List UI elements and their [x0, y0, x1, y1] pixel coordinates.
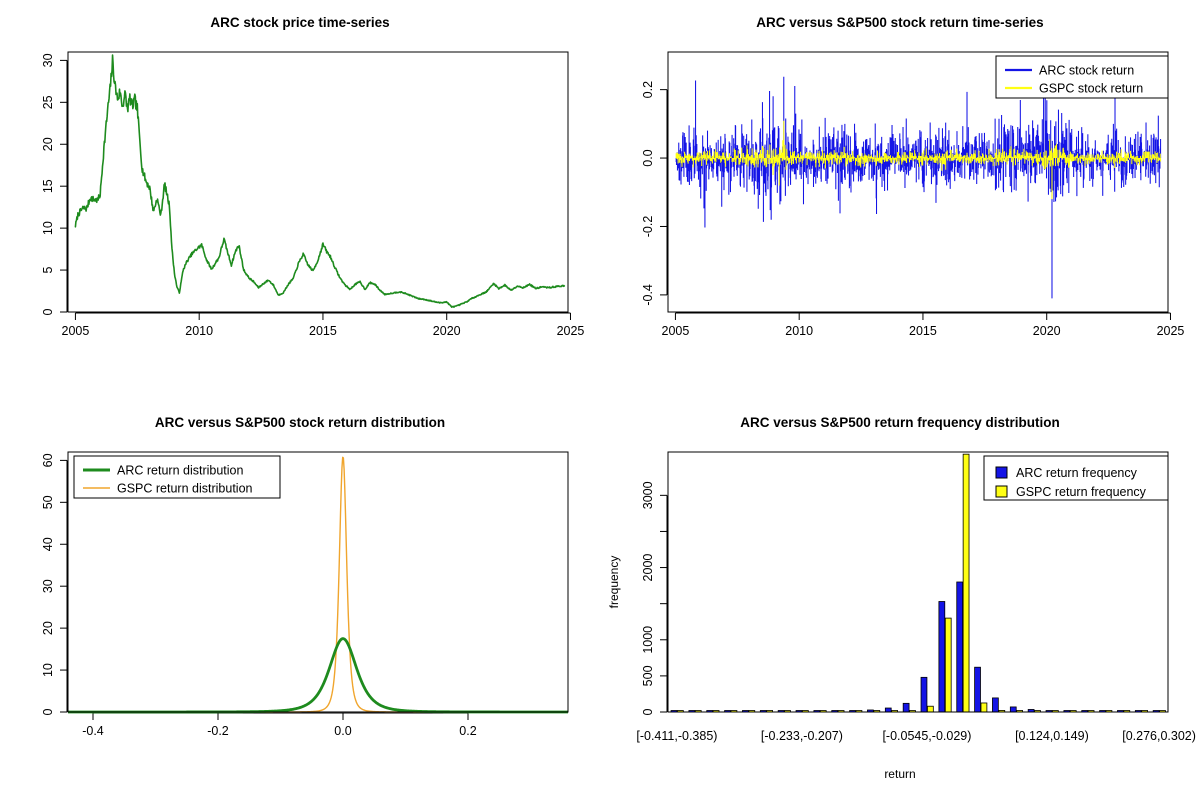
- panel-return-timeseries: ARC versus S&P500 stock return time-seri…: [600, 0, 1200, 400]
- arc-return-spikes: [676, 77, 1160, 299]
- y-axis-label: frequency: [607, 556, 621, 609]
- histogram-bar: [903, 703, 909, 712]
- x-tick-label: 2005: [62, 324, 90, 338]
- histogram-bar: [957, 582, 963, 712]
- y-tick-label: -0.2: [641, 216, 655, 238]
- arc-density-curve: [68, 639, 568, 712]
- y-tick-label: 40: [41, 537, 55, 551]
- legend-label-1: GSPC return distribution: [117, 482, 253, 496]
- x-tick-label: 0.2: [459, 724, 476, 738]
- x-axis-label: return: [884, 767, 915, 781]
- legend[interactable]: ARC stock returnGSPC stock return: [996, 56, 1168, 98]
- histogram-bar: [963, 454, 969, 712]
- panel-title: ARC stock price time-series: [210, 15, 389, 30]
- y-tick-label: 0: [41, 708, 55, 715]
- panel-title: ARC versus S&P500 stock return time-seri…: [756, 15, 1043, 30]
- histogram-bar: [981, 703, 987, 712]
- x-tick-label: 2025: [1157, 324, 1185, 338]
- y-tick-label: 500: [641, 665, 655, 686]
- legend-label-0: ARC return distribution: [117, 464, 243, 478]
- y-tick-label: 30: [41, 53, 55, 67]
- panel-price-timeseries: ARC stock price time-series 200520102015…: [0, 0, 600, 400]
- y-tick-label: 0.0: [641, 149, 655, 166]
- panel-return-distribution: ARC versus S&P500 stock return distribut…: [0, 400, 600, 800]
- x-tick-label: 2015: [909, 324, 937, 338]
- y-tick-label: 60: [41, 453, 55, 467]
- y-tick-label: 5: [41, 267, 55, 274]
- plot-frame: [68, 52, 568, 312]
- x-tick-label: 2010: [185, 324, 213, 338]
- panel-title: ARC versus S&P500 stock return distribut…: [155, 415, 445, 430]
- histogram-bar: [885, 708, 891, 712]
- x-tick-label: 2020: [1033, 324, 1061, 338]
- legend-swatch-1: [996, 486, 1007, 497]
- histogram-bar: [1010, 707, 1016, 712]
- y-tick-label: 50: [41, 495, 55, 509]
- y-tick-label: -0.4: [641, 284, 655, 306]
- y-tick-label: 0: [41, 308, 55, 315]
- x-tick-label: [-0.233,-0.207): [761, 729, 843, 743]
- y-tick-label: 15: [41, 179, 55, 193]
- x-tick-label: [-0.411,-0.385): [636, 729, 717, 743]
- x-tick-label: [0.276,0.302): [1122, 729, 1196, 743]
- legend-label-1: GSPC return frequency: [1016, 485, 1147, 499]
- return-frequency-svg: ARC versus S&P500 return frequency distr…: [600, 400, 1200, 800]
- panel-return-frequency: ARC versus S&P500 return frequency distr…: [600, 400, 1200, 800]
- y-tick-label: 3000: [641, 481, 655, 509]
- legend-swatch-0: [996, 467, 1007, 478]
- return-timeseries-svg: ARC versus S&P500 stock return time-seri…: [600, 0, 1200, 400]
- histogram-bar: [927, 706, 933, 712]
- x-tick-label: 2010: [785, 324, 813, 338]
- histogram-bar: [992, 698, 998, 712]
- legend-label-0: ARC return frequency: [1016, 466, 1138, 480]
- y-tick-label: 10: [41, 663, 55, 677]
- data-group: [676, 77, 1160, 299]
- legend-label-1: GSPC stock return: [1039, 82, 1143, 96]
- y-tick-label: 1000: [641, 626, 655, 654]
- x-tick-label: 2020: [433, 324, 461, 338]
- price-line: [75, 55, 564, 307]
- histogram-bar: [921, 677, 927, 712]
- y-tick-label: 0.2: [641, 81, 655, 98]
- axes-group: 20052010201520202025-0.4-0.20.00.2: [641, 81, 1184, 338]
- x-tick-label: [0.124,0.149): [1015, 729, 1089, 743]
- legend-label-0: ARC stock return: [1039, 64, 1134, 78]
- x-tick-label: -0.4: [82, 724, 104, 738]
- legend[interactable]: ARC return distributionGSPC return distr…: [74, 456, 280, 498]
- series-group: [676, 77, 1160, 299]
- legend[interactable]: ARC return frequencyGSPC return frequenc…: [984, 456, 1168, 500]
- price-timeseries-svg: ARC stock price time-series 200520102015…: [0, 0, 600, 400]
- histogram-bar: [945, 618, 951, 712]
- plot-grid: ARC stock price time-series 200520102015…: [0, 0, 1200, 800]
- histogram-bar: [975, 667, 981, 712]
- gspc-return-spikes: [676, 121, 1160, 199]
- panel-title: ARC versus S&P500 return frequency distr…: [740, 415, 1060, 430]
- y-tick-label: 10: [41, 221, 55, 235]
- x-tick-label: 2005: [662, 324, 690, 338]
- x-tick-label: 2015: [309, 324, 337, 338]
- x-tick-label: 2025: [557, 324, 585, 338]
- y-tick-label: 25: [41, 95, 55, 109]
- x-tick-label: -0.2: [207, 724, 229, 738]
- y-tick-label: 20: [41, 621, 55, 635]
- y-tick-label: 30: [41, 579, 55, 593]
- x-tick-label: [-0.0545,-0.029): [882, 729, 971, 743]
- return-distribution-svg: ARC versus S&P500 stock return distribut…: [0, 400, 600, 800]
- axes-group: 20052010201520202025051015202530: [41, 53, 584, 338]
- axes-group: 0500100020003000[-0.411,-0.385)[-0.233,-…: [636, 481, 1196, 743]
- y-tick-label: 2000: [641, 554, 655, 582]
- histogram-bar: [939, 602, 945, 713]
- data-group: [75, 55, 564, 307]
- y-tick-label: 20: [41, 137, 55, 151]
- y-tick-label: 0: [641, 708, 655, 715]
- x-tick-label: 0.0: [334, 724, 351, 738]
